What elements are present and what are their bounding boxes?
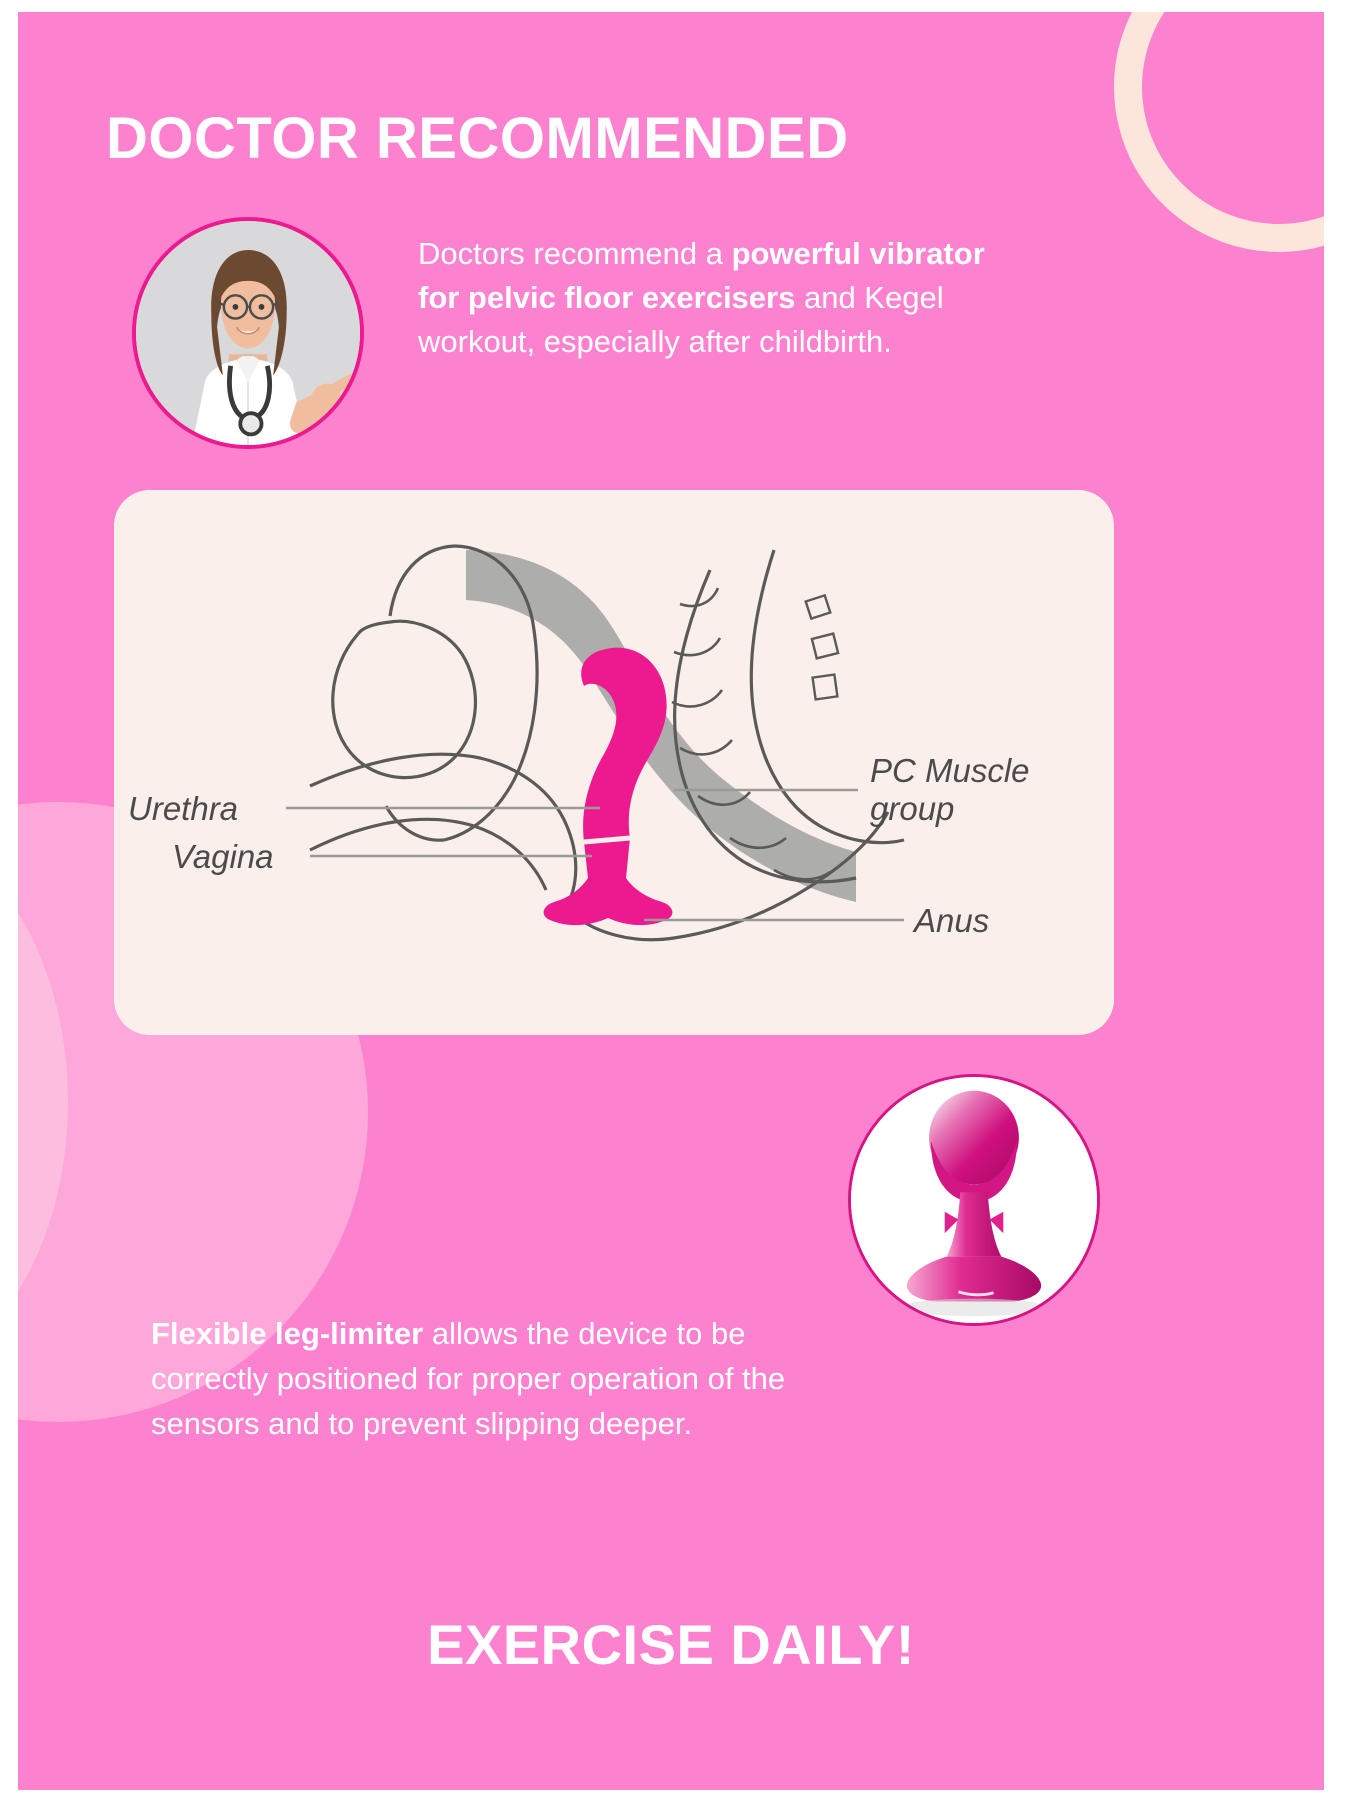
feature-paragraph: Flexible leg-limiter allows the device t… <box>151 1312 831 1447</box>
label-pc-muscle: PC Muscle <box>870 752 1030 789</box>
intro-paragraph: Doctors recommend a powerful vibrator fo… <box>418 232 1028 364</box>
footer-cta: EXERCISE DAILY! <box>18 1612 1324 1677</box>
decorative-ring <box>1114 12 1324 252</box>
pink-panel: DOCTOR RECOMMENDED <box>18 12 1324 1790</box>
feature-bold: Flexible leg-limiter <box>151 1316 423 1351</box>
page-title: DOCTOR RECOMMENDED <box>106 110 1106 168</box>
label-urethra: Urethra <box>128 790 238 827</box>
intro-part1: Doctors recommend a <box>418 236 732 271</box>
label-pc-muscle-group: group <box>870 790 954 827</box>
anatomy-diagram-card: Urethra Vagina PC Muscle group Anus <box>114 490 1114 1035</box>
avatar <box>132 217 364 449</box>
label-anus: Anus <box>912 902 989 939</box>
label-vagina: Vagina <box>172 838 274 875</box>
product-photo <box>848 1074 1100 1326</box>
infographic-page: DOCTOR RECOMMENDED <box>0 0 1350 1800</box>
